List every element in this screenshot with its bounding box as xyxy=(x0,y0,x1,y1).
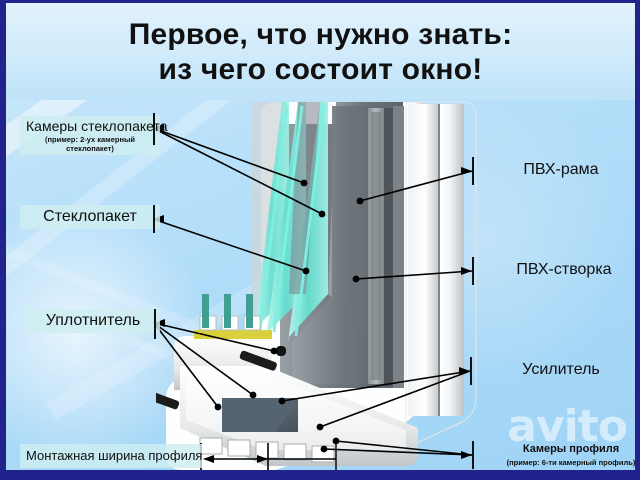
label-seal-main: Уплотнитель xyxy=(32,311,154,331)
label-pvc-sash-main: ПВХ-створка xyxy=(502,260,626,280)
label-glass-chambers-sub1: (пример: 2-ух камерный xyxy=(26,135,154,144)
label-pvc-frame[interactable]: ПВХ-рама xyxy=(500,158,622,182)
label-profile-chambers[interactable]: Камеры профиля (пример: 6-ти камерный пр… xyxy=(492,439,635,469)
label-cap-pvc-frame xyxy=(472,157,474,185)
label-cap-pvc-sash xyxy=(472,257,474,285)
label-cap-reinforcement xyxy=(470,357,472,385)
label-glass-unit[interactable]: Стеклопакет xyxy=(20,205,160,229)
label-cap-glass-unit xyxy=(153,205,155,233)
label-mounting-width-main: Монтажная ширина профиля xyxy=(26,446,196,466)
slide-root: Камеры стеклопакета (пример: 2-ух камерн… xyxy=(0,0,640,480)
label-glass-chambers[interactable]: Камеры стеклопакета (пример: 2-ух камерн… xyxy=(20,116,160,155)
label-glass-chambers-sub2: стеклопакет) xyxy=(26,144,154,153)
slide-canvas: Камеры стеклопакета (пример: 2-ух камерн… xyxy=(6,3,635,470)
label-reinforcement-main: Усилитель xyxy=(506,360,616,380)
leader-lines xyxy=(6,3,635,470)
label-profile-chambers-sub1: (пример: 6-ти камерный профиль) xyxy=(498,458,635,467)
label-profile-chambers-main: Камеры профиля xyxy=(498,441,635,458)
label-reinforcement[interactable]: Усилитель xyxy=(500,358,622,382)
label-cap-glass-chambers xyxy=(153,113,155,145)
label-seal[interactable]: Уплотнитель xyxy=(26,309,160,333)
label-glass-chambers-main: Камеры стеклопакета xyxy=(26,118,154,135)
label-cap-seal xyxy=(154,309,156,339)
label-mounting-width[interactable]: Монтажная ширина профиля xyxy=(20,444,202,468)
label-pvc-frame-main: ПВХ-рама xyxy=(506,160,616,180)
label-pvc-sash[interactable]: ПВХ-створка xyxy=(496,258,632,282)
leader-dots xyxy=(215,180,364,453)
label-cap-profile-chambers xyxy=(472,441,474,469)
leader-arrowheads xyxy=(153,124,472,459)
label-glass-unit-main: Стеклопакет xyxy=(26,207,154,227)
